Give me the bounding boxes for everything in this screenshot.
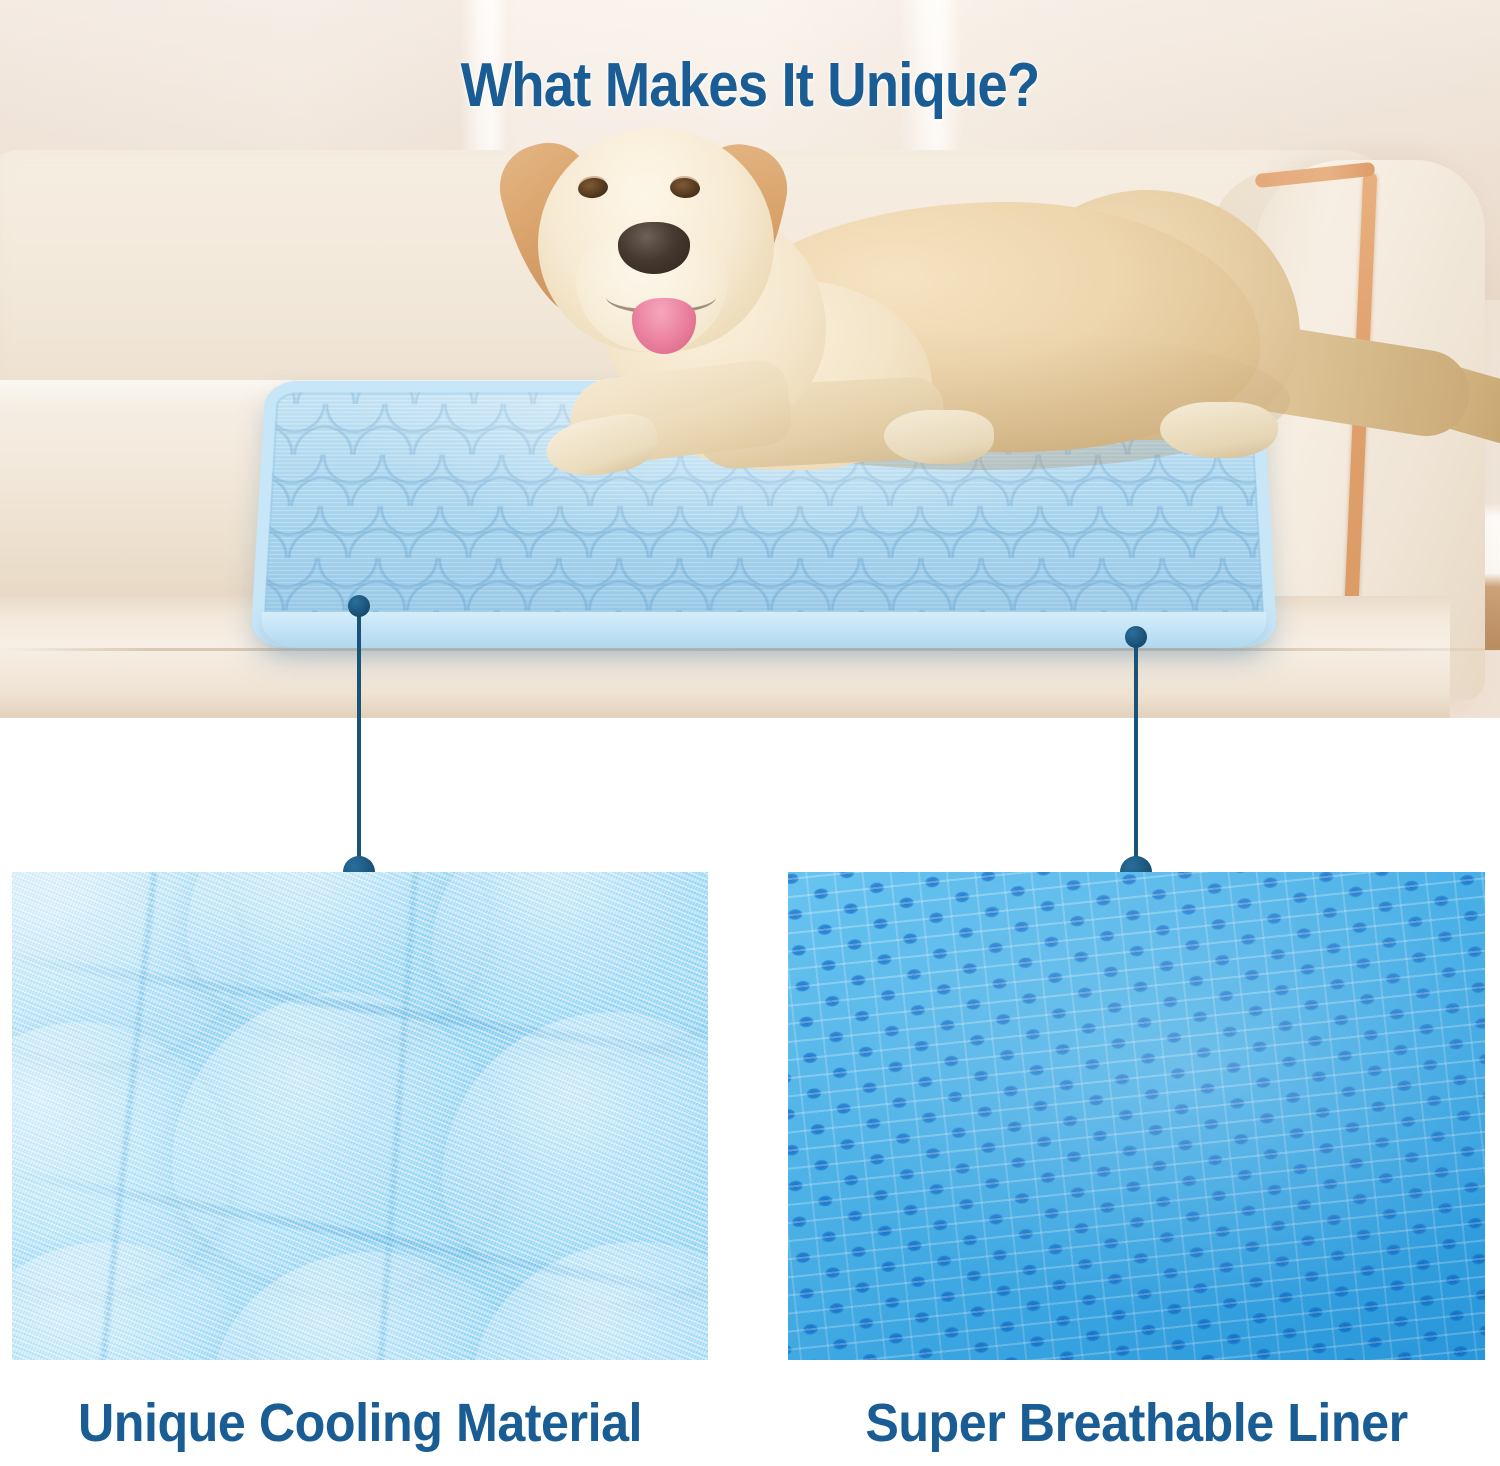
callout-line-breathable-liner — [1134, 643, 1138, 874]
fabric-knit-texture — [12, 872, 708, 1360]
caption-cooling-material: Unique Cooling Material — [36, 1388, 683, 1458]
dog-front-paw-right — [884, 410, 994, 464]
page-title: What Makes It Unique? — [90, 50, 1410, 121]
caption-breathable-liner: Super Breathable Liner — [812, 1388, 1460, 1458]
callout-line-cooling-material — [357, 612, 361, 874]
mat-front-edge — [262, 612, 1266, 648]
sofa-skirt-seam — [0, 648, 1500, 651]
callout-anchor-dot-cooling-material — [348, 595, 370, 617]
dog-rear-paw — [1160, 402, 1278, 458]
detail-photo-breathable-liner — [788, 872, 1485, 1360]
dog-labrador — [370, 120, 1290, 470]
air-mesh-shading — [788, 872, 1485, 1360]
detail-photo-cooling-material — [12, 872, 708, 1360]
callout-anchor-dot-breathable-liner — [1125, 626, 1147, 648]
